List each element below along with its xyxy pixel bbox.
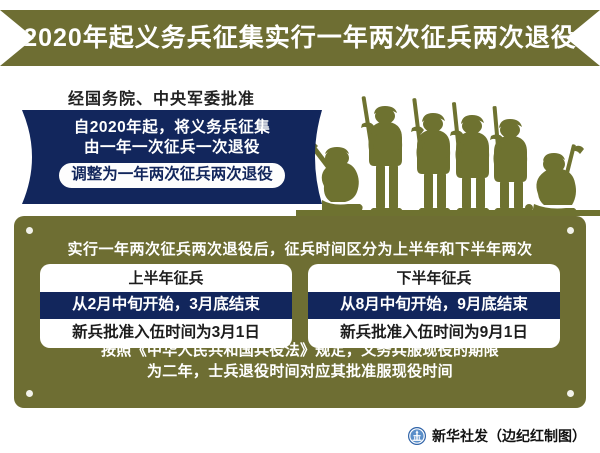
rivet-dot-icon bbox=[567, 390, 574, 397]
soldier-silhouettes-icon bbox=[296, 82, 600, 218]
schedule-card-first-half: 上半年征兵 从2月中旬开始，3月底结束 新兵批准入伍时间为3月1日 bbox=[40, 264, 292, 348]
credit-text: 新华社发（边纪红制图） bbox=[432, 426, 586, 446]
plaque-heading: 实行一年两次征兵两次退役后，征兵时间区分为上半年和下半年两次 bbox=[14, 238, 586, 259]
infographic-canvas: 2020年起义务兵征集实行一年两次征兵两次退役 经国务院、中央军委批准 bbox=[0, 0, 600, 453]
plaque-footnote-line-1: 按照《中华人民共和国兵役法》规定，义务兵服现役的期限 bbox=[14, 340, 586, 361]
rivet-dot-icon bbox=[567, 227, 574, 234]
policy-banner: 自2020年起，将义务兵征集 由一年一次征兵一次退役 调整为一年两次征兵两次退役 bbox=[22, 110, 322, 204]
policy-line-1: 自2020年起，将义务兵征集 bbox=[74, 118, 270, 138]
plaque-footnote: 按照《中华人民共和国兵役法》规定，义务兵服现役的期限 为二年，士兵退役时间对应其… bbox=[14, 340, 586, 382]
rivet-dot-icon bbox=[26, 390, 33, 397]
card-title: 上半年征兵 bbox=[40, 264, 292, 292]
card-period: 从2月中旬开始，3月底结束 bbox=[40, 292, 292, 319]
plaque-footnote-line-2: 为二年，士兵退役时间对应其批准服现役时间 bbox=[14, 361, 586, 382]
page-title: 2020年起义务兵征集实行一年两次征兵两次退役 bbox=[23, 26, 577, 51]
xinhua-emblem-icon bbox=[408, 427, 426, 445]
approval-note: 经国务院、中央军委批准 bbox=[34, 85, 289, 109]
policy-highlight-pill: 调整为一年两次征兵两次退役 bbox=[58, 162, 286, 189]
card-title: 下半年征兵 bbox=[308, 264, 560, 292]
schedule-card-second-half: 下半年征兵 从8月中旬开始，9月底结束 新兵批准入伍时间为9月1日 bbox=[308, 264, 560, 348]
schedule-plaque: 实行一年两次征兵两次退役后，征兵时间区分为上半年和下半年两次 上半年征兵 从2月… bbox=[14, 216, 586, 408]
policy-line-2: 由一年一次征兵一次退役 bbox=[84, 138, 260, 158]
rivet-dot-icon bbox=[26, 227, 33, 234]
card-period: 从8月中旬开始，9月底结束 bbox=[308, 292, 560, 319]
title-ribbon: 2020年起义务兵征集实行一年两次征兵两次退役 bbox=[0, 10, 600, 66]
schedule-cards: 上半年征兵 从2月中旬开始，3月底结束 新兵批准入伍时间为3月1日 下半年征兵 … bbox=[40, 264, 560, 348]
credit: 新华社发（边纪红制图） bbox=[408, 426, 586, 446]
